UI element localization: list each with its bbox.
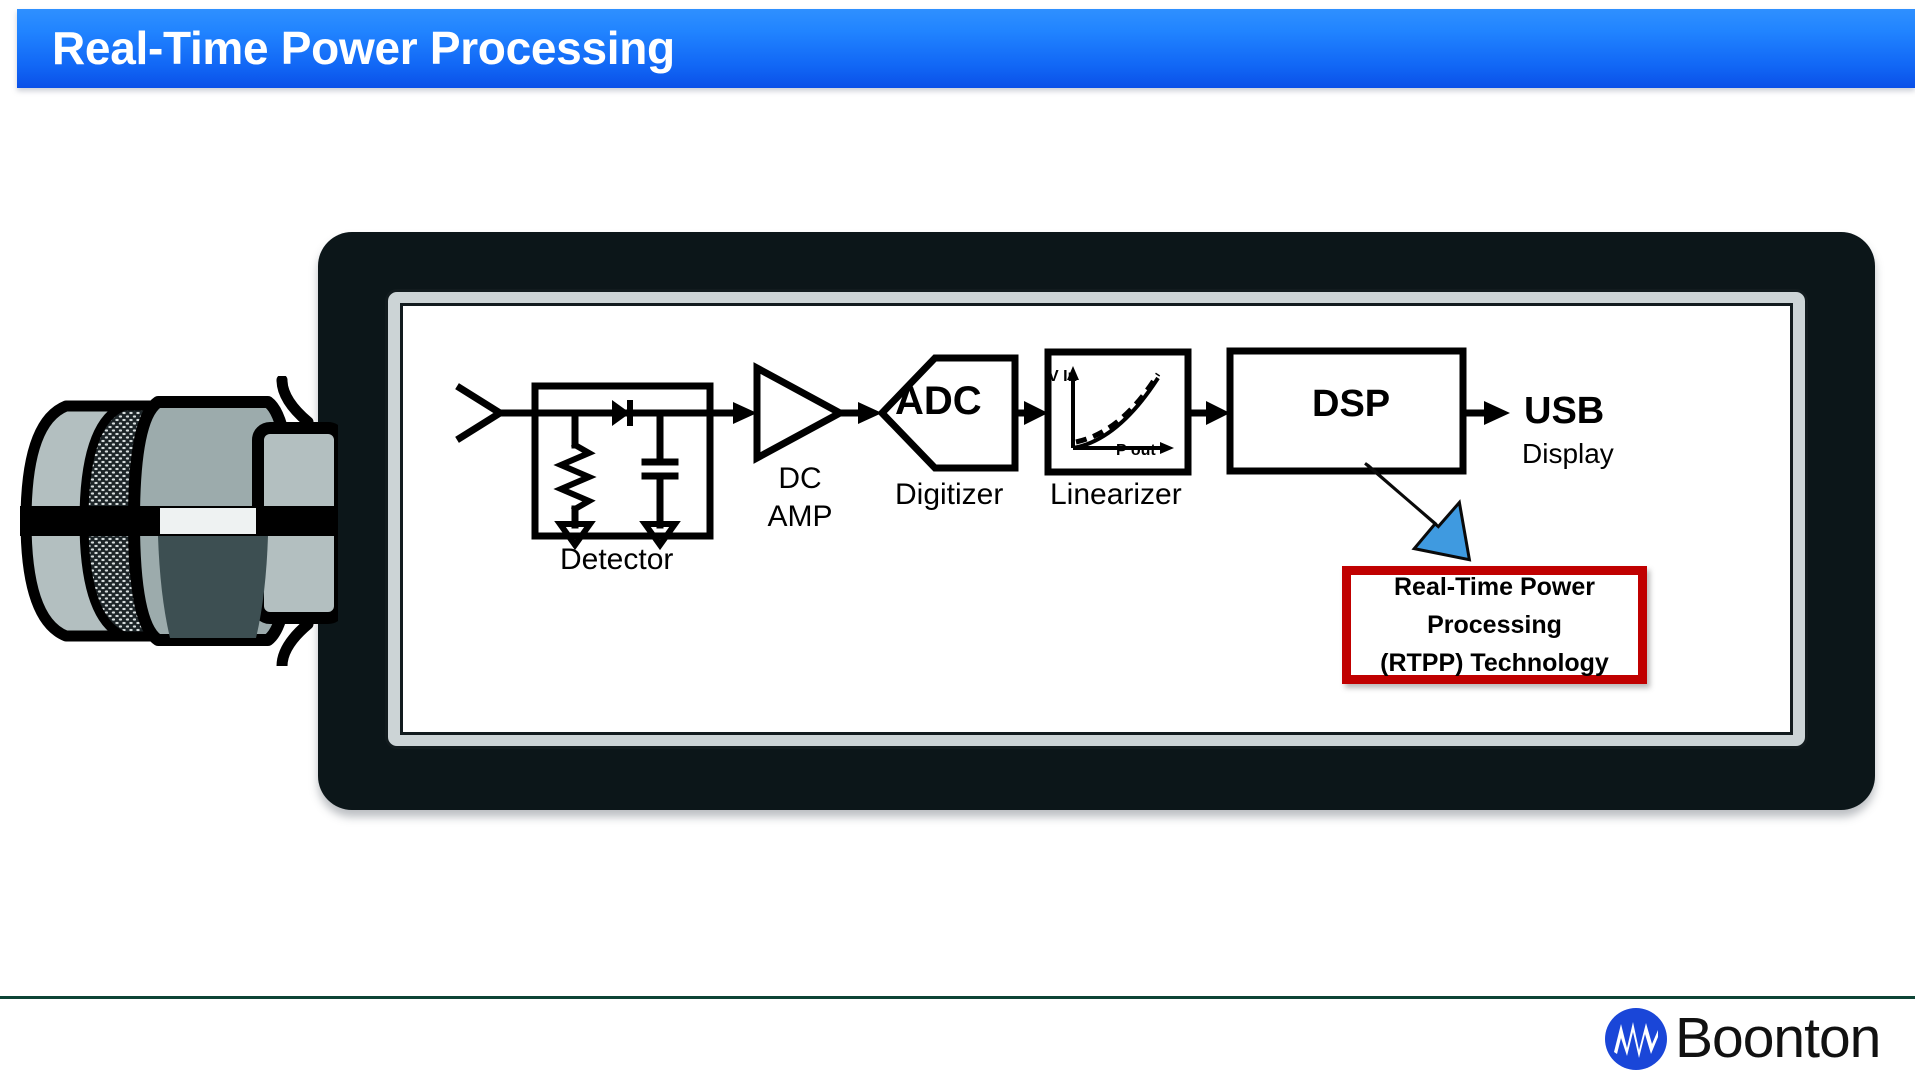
slide-title-bar: Real-Time Power Processing (17, 9, 1915, 88)
label-usb: USB (1524, 390, 1604, 433)
boonton-logo: Boonton (1605, 1008, 1905, 1070)
label-display: Display (1522, 438, 1614, 470)
label-adc: ADC (895, 379, 982, 424)
page-title: Real-Time Power Processing (52, 20, 675, 74)
footer-divider (0, 996, 1915, 999)
rf-connector-icon (8, 376, 338, 666)
label-dc-amp: DC AMP (755, 460, 845, 536)
rtpp-line-3: (RTPP) Technology (1380, 644, 1609, 682)
rtpp-callout-box: Real-Time Power Processing (RTPP) Techno… (1342, 566, 1647, 684)
boonton-wordmark: Boonton (1675, 1007, 1880, 1069)
rtpp-line-2: Processing (1380, 606, 1609, 644)
boonton-mark-icon (1605, 1008, 1667, 1070)
label-digitizer: Digitizer (895, 478, 1003, 512)
label-v-in: V In (1048, 368, 1077, 386)
rtpp-line-1: Real-Time Power (1380, 568, 1609, 606)
label-dsp: DSP (1312, 383, 1390, 426)
rtpp-callout-text: Real-Time Power Processing (RTPP) Techno… (1380, 568, 1609, 682)
power-sensor-body (318, 232, 1875, 810)
label-p-out: P out (1116, 442, 1156, 460)
label-dc-amp-line1: DC (755, 460, 845, 498)
label-dc-amp-line2: AMP (755, 498, 845, 536)
label-linearizer: Linearizer (1050, 478, 1182, 512)
label-detector: Detector (560, 543, 673, 577)
